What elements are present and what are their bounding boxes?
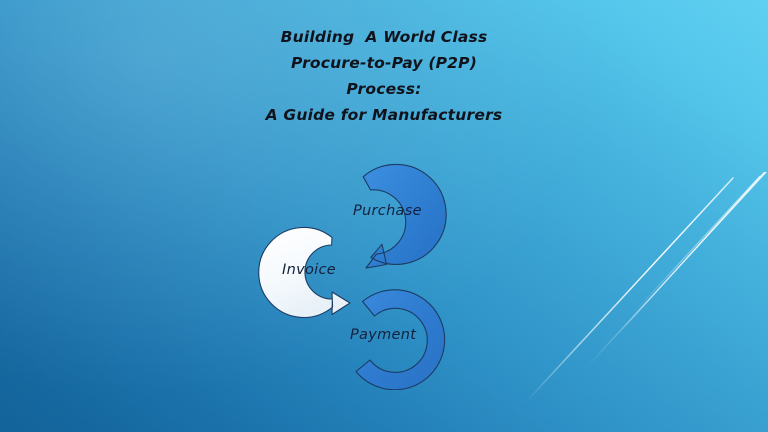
cycle-label-payment: Payment: [350, 327, 416, 343]
title-line-1: Building A World Class: [0, 24, 768, 50]
cycle-label-purchase: Purchase: [353, 203, 422, 219]
title-line-2: Procure-to-Pay (P2P): [0, 50, 768, 76]
cycle-arrows-svg: [240, 140, 490, 390]
title-line-4: A Guide for Manufacturers: [0, 102, 768, 128]
p2p-cycle-diagram: Purchase Invoice Payment: [240, 140, 490, 390]
cycle-label-invoice: Invoice: [282, 262, 336, 278]
title-line-3: Process:: [0, 76, 768, 102]
slide-title: Building A World Class Procure-to-Pay (P…: [0, 24, 768, 128]
slide-canvas: Building A World Class Procure-to-Pay (P…: [0, 0, 768, 432]
diagonal-light-streaks: [508, 172, 768, 432]
